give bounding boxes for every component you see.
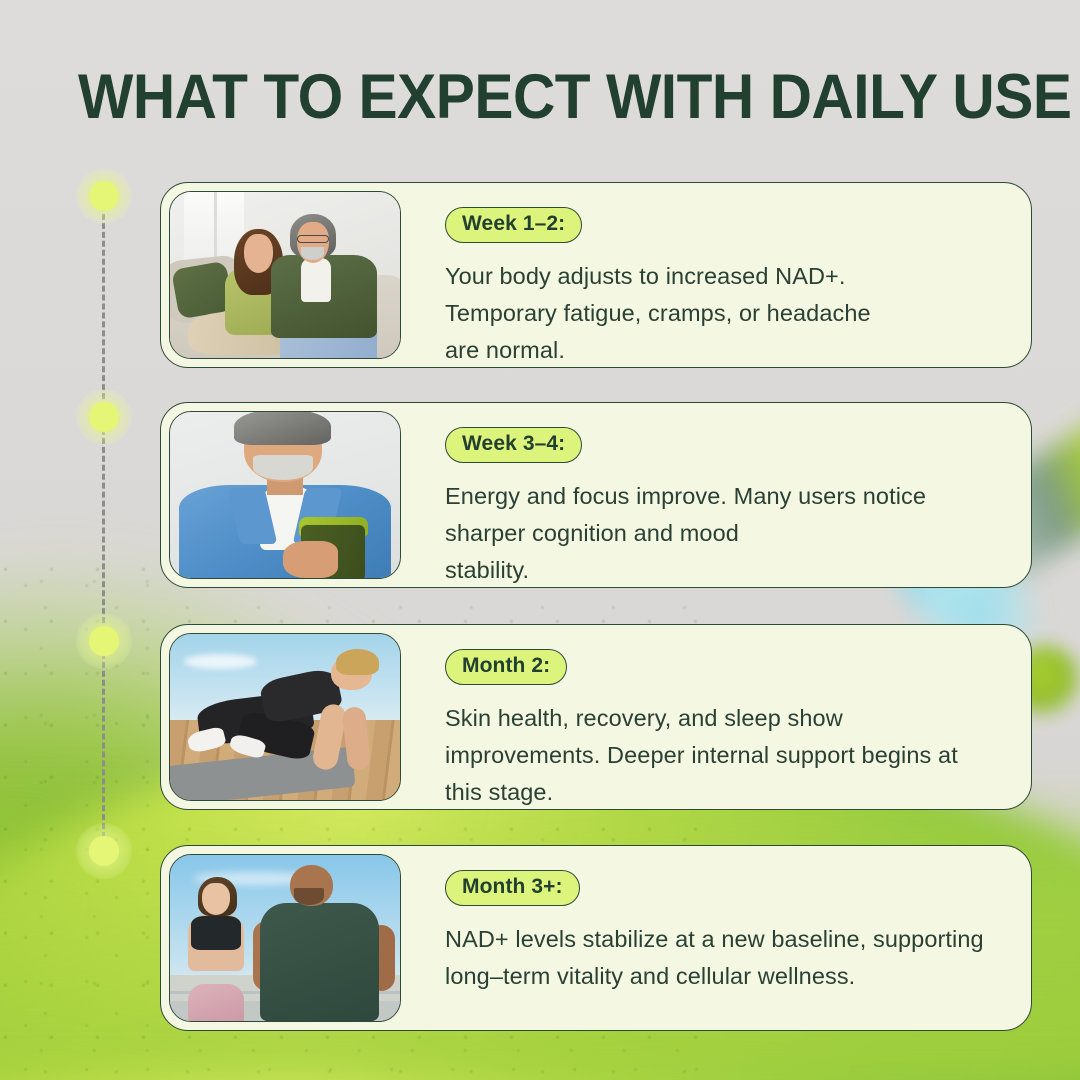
timeline-card-2[interactable]: Week 3–4: Energy and focus improve. Many… xyxy=(160,402,1032,588)
page-title: WHAT TO EXPECT WITH DAILY USE xyxy=(78,66,1071,129)
timeline-card-3[interactable]: Month 2: Skin health, recovery, and slee… xyxy=(160,624,1032,810)
woman-exercising-on-deck-photo xyxy=(169,633,401,801)
card-badge-1: Week 1–2: xyxy=(445,207,582,243)
man-holding-supplement-jar-photo xyxy=(169,411,401,579)
card-text-1: Your body adjusts to increased NAD+. Tem… xyxy=(445,258,1001,368)
card-body-1: Week 1–2: Your body adjusts to increased… xyxy=(409,183,1031,367)
couple-on-couch-photo xyxy=(169,191,401,359)
infographic-page: WHAT TO EXPECT WITH DAILY USE Week 1–2: … xyxy=(0,0,1080,1080)
timeline-card-4[interactable]: Month 3+: NAD+ levels stabilize at a new… xyxy=(160,845,1032,1031)
card-badge-3: Month 2: xyxy=(445,649,567,685)
timeline-dashed-line xyxy=(102,196,105,856)
timeline-card-1[interactable]: Week 1–2: Your body adjusts to increased… xyxy=(160,182,1032,368)
couple-walking-outdoors-photo xyxy=(169,854,401,1022)
timeline-dot-2 xyxy=(76,389,132,445)
timeline-dot-3 xyxy=(76,613,132,669)
card-body-2: Week 3–4: Energy and focus improve. Many… xyxy=(409,403,1031,587)
card-text-2: Energy and focus improve. Many users not… xyxy=(445,478,1001,588)
card-text-3: Skin health, recovery, and sleep show im… xyxy=(445,700,1001,810)
card-badge-4: Month 3+: xyxy=(445,870,580,906)
timeline-dot-4 xyxy=(76,823,132,879)
card-badge-2: Week 3–4: xyxy=(445,427,582,463)
timeline-dot-1 xyxy=(76,168,132,224)
card-body-3: Month 2: Skin health, recovery, and slee… xyxy=(409,625,1031,809)
card-text-4: NAD+ levels stabilize at a new baseline,… xyxy=(445,921,1001,995)
card-body-4: Month 3+: NAD+ levels stabilize at a new… xyxy=(409,846,1031,1030)
